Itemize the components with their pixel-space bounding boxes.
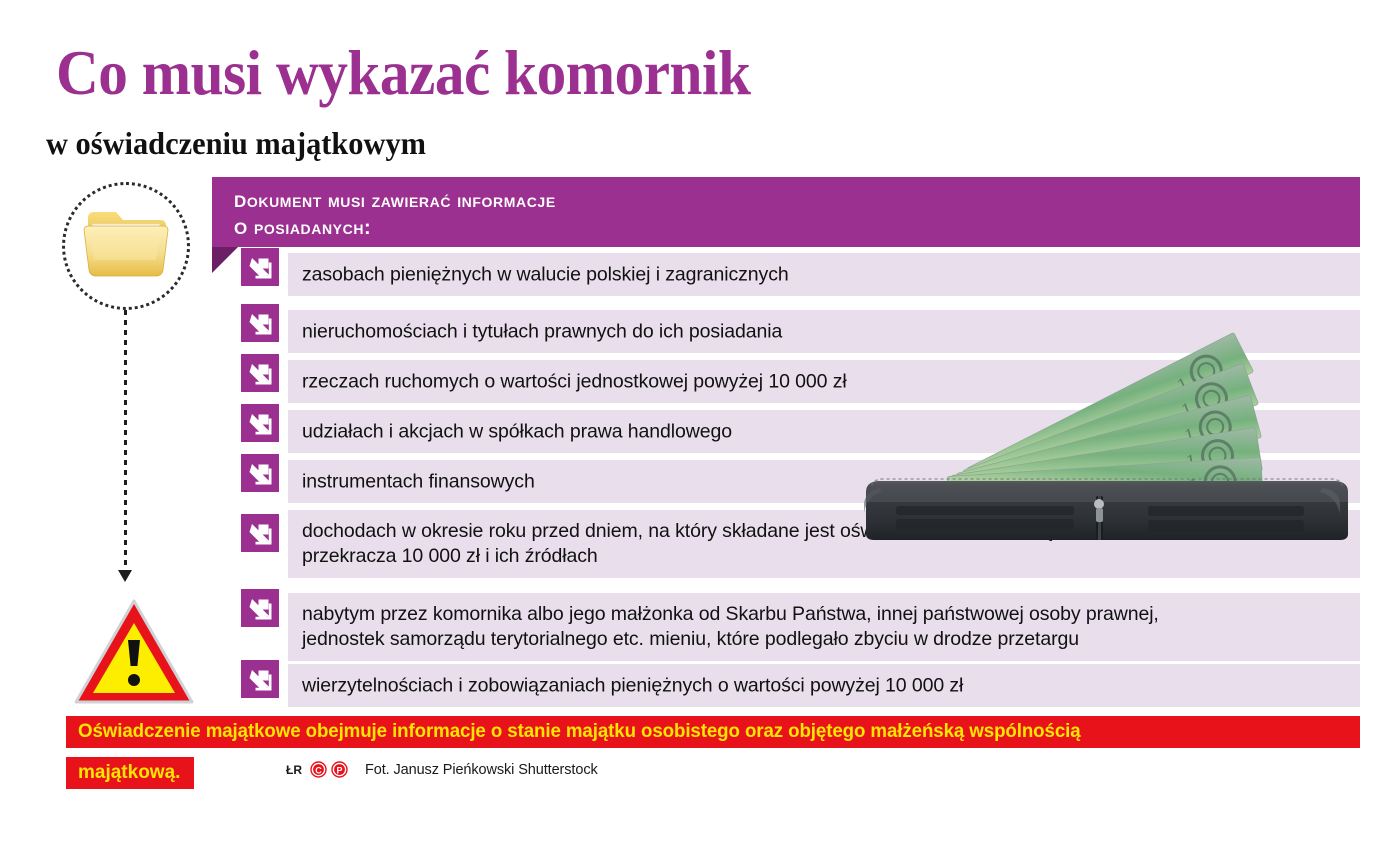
footer-banner-line-1: Oświadczenie majątkowe obejmuje informac… <box>66 716 1360 748</box>
connector-dotted-line <box>124 310 127 572</box>
arrow-down-right-icon <box>241 660 279 698</box>
svg-text:P: P <box>336 765 342 775</box>
ribbon-fold-decoration <box>212 247 238 273</box>
list-item: rzeczach ruchomych o wartości jednostkow… <box>288 360 1360 403</box>
list-item-label: nieruchomościach i tytułach prawnych do … <box>302 319 1348 344</box>
list-item: zasobach pieniężnych w walucie polskiej … <box>288 253 1360 296</box>
copyright-c-icon: C <box>309 760 328 779</box>
arrow-down-right-icon <box>241 514 279 552</box>
arrow-down-right-icon <box>241 589 279 627</box>
photo-credit-text: Fot. Janusz Pieńkowski Shutterstock <box>365 762 598 778</box>
section-header-band: Dokument musi zawierać informacje o posi… <box>212 177 1360 247</box>
footer-banner-line-2: majątkową. <box>66 757 194 789</box>
list-item-label: dochodach w okresie roku przed dniem, na… <box>302 519 1348 569</box>
copyright-marks: C P <box>309 760 349 779</box>
list-item: udziałach i akcjach w spółkach prawa han… <box>288 410 1360 453</box>
list-item: wierzytelnościach i zobowiązaniach pieni… <box>288 664 1360 707</box>
footer-banner-text-2: majątkową. <box>78 762 180 784</box>
page-subtitle: w oświadczeniu majątkowym <box>46 124 426 162</box>
list-item-label: wierzytelnościach i zobowiązaniach pieni… <box>302 673 1348 698</box>
warning-triangle-icon <box>72 596 196 708</box>
list-item-label: instrumentach finansowych <box>302 469 1348 494</box>
logo-lr: ŁR <box>286 763 302 777</box>
section-header-line-1: Dokument musi zawierać informacje <box>234 187 556 214</box>
list-item: instrumentach finansowych <box>288 460 1360 503</box>
list-item: nieruchomościach i tytułach prawnych do … <box>288 310 1360 353</box>
photo-credit: ŁR C P Fot. Janusz Pieńkowski Shuttersto… <box>286 760 598 779</box>
copyright-p-icon: P <box>330 760 349 779</box>
section-header-line-2: o posiadanych: <box>234 214 556 241</box>
infographic-canvas: Co musi wykazać komornik w oświadczeniu … <box>0 0 1400 859</box>
folder-icon <box>70 188 182 300</box>
arrow-down-right-icon <box>241 454 279 492</box>
arrow-down-right-icon <box>241 404 279 442</box>
arrow-down-right-icon <box>241 304 279 342</box>
list-item-label: nabytym przez komornika albo jego małżon… <box>302 602 1348 652</box>
arrow-down-right-icon <box>241 248 279 286</box>
list-item-label: zasobach pieniężnych w walucie polskiej … <box>302 262 1348 287</box>
section-header-text: Dokument musi zawierać informacje o posi… <box>234 187 556 241</box>
footer-banner-text-1: Oświadczenie majątkowe obejmuje informac… <box>78 719 1081 745</box>
arrow-down-right-icon <box>241 354 279 392</box>
list-item: nabytym przez komornika albo jego małżon… <box>288 593 1360 661</box>
list-item-label: rzeczach ruchomych o wartości jednostkow… <box>302 369 1348 394</box>
connector-arrowhead-icon <box>118 570 132 582</box>
list-item: dochodach w okresie roku przed dniem, na… <box>288 510 1360 578</box>
svg-text:C: C <box>315 765 322 775</box>
page-title: Co musi wykazać komornik <box>56 38 750 108</box>
list-item-label: udziałach i akcjach w spółkach prawa han… <box>302 419 1348 444</box>
